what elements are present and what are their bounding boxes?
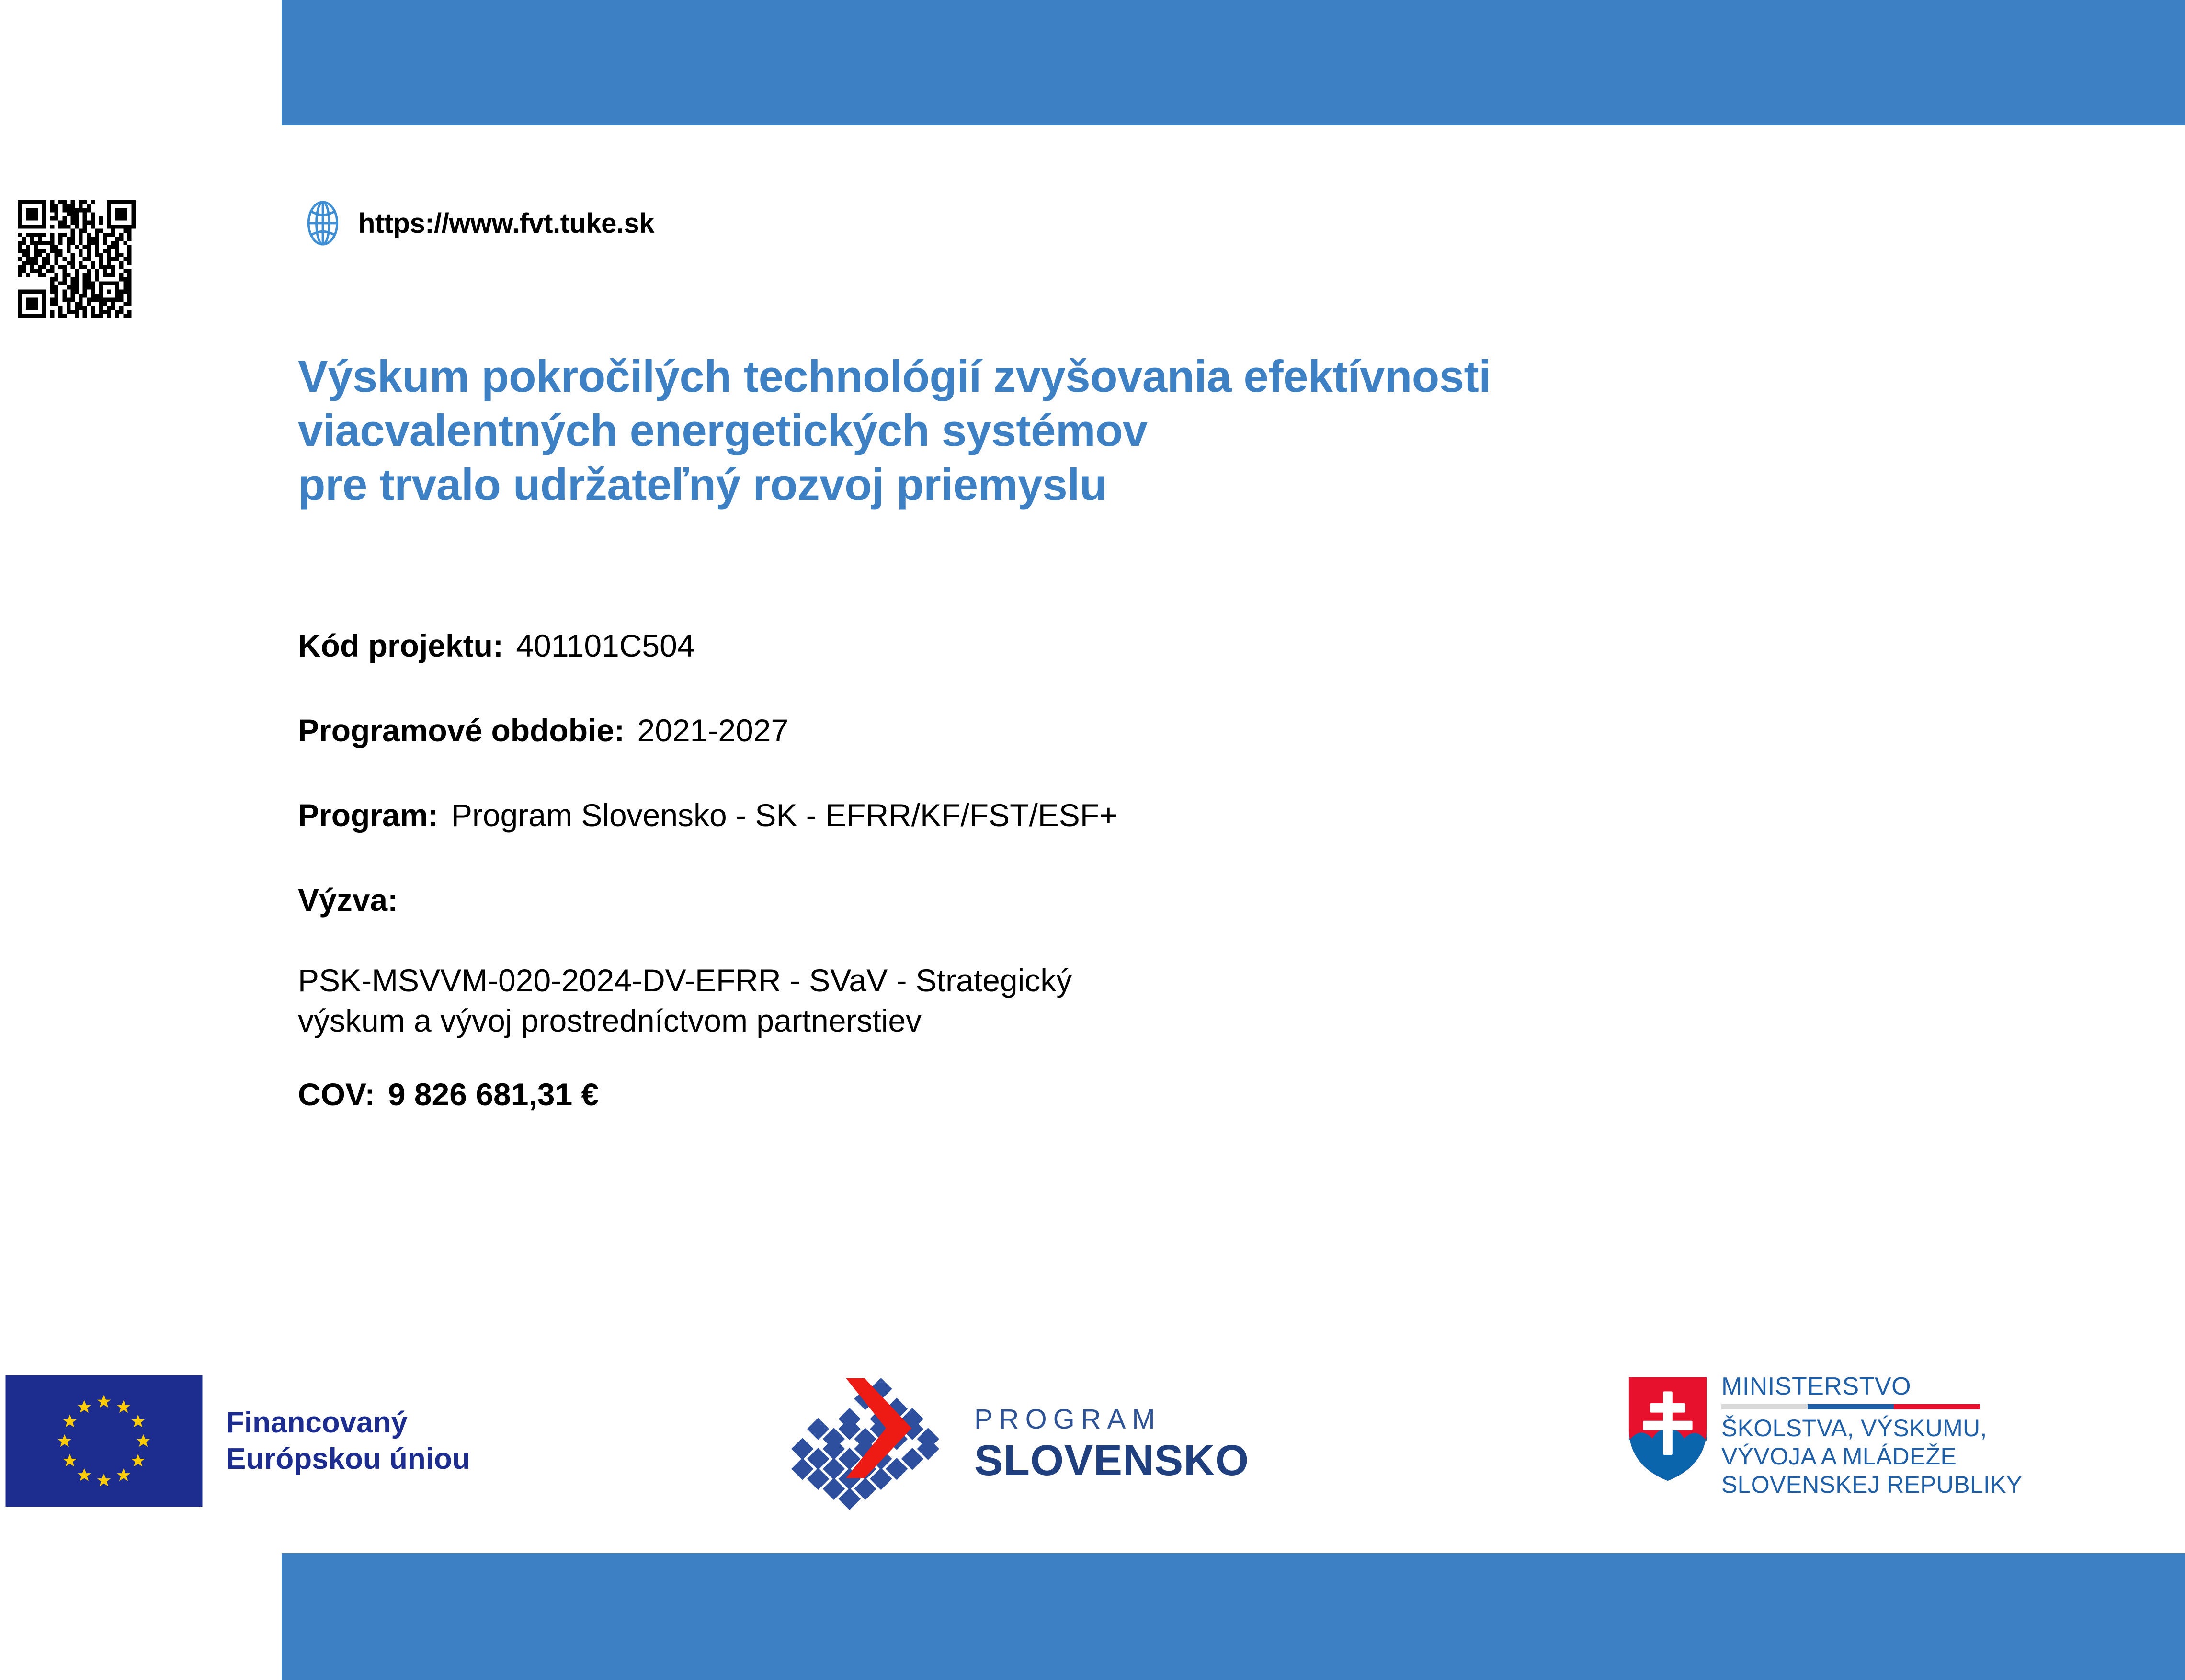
website-row[interactable]: https://www.fvt.tuke.sk bbox=[300, 200, 654, 246]
title-line-3: pre trvalo udržateľný rozvoj priemyslu bbox=[298, 458, 2070, 512]
call-label: Výzva: bbox=[298, 882, 398, 918]
spacer bbox=[298, 749, 1831, 797]
tricolor-divider bbox=[1721, 1404, 1980, 1409]
website-url[interactable]: https://www.fvt.tuke.sk bbox=[358, 207, 654, 239]
eu-funding-logo: Financovaný Európskou úniou bbox=[4, 1375, 470, 1507]
program-slovensko-icon bbox=[785, 1370, 952, 1518]
program-slovensko-line1: PROGRAM bbox=[974, 1406, 1249, 1433]
title-line-1: Výskum pokročilých technológií zvyšovani… bbox=[298, 350, 2070, 404]
ministry-heading: MINISTERSTVO bbox=[1721, 1374, 2022, 1400]
bottom-blue-banner bbox=[282, 1553, 2185, 1680]
top-blue-banner bbox=[282, 0, 2185, 125]
footer-logos: Financovaný Európskou úniou bbox=[0, 1365, 2185, 1528]
page-title: Výskum pokročilých technológií zvyšovani… bbox=[298, 350, 2070, 511]
program-slovensko-logo: PROGRAM SLOVENSKO bbox=[785, 1370, 1249, 1518]
program-slovensko-wordmark: PROGRAM SLOVENSKO bbox=[974, 1406, 1249, 1482]
project-details: Kód projektu: 401101C504 Programové obdo… bbox=[298, 627, 1831, 1112]
cov-label: COV: bbox=[298, 1077, 375, 1112]
eu-flag-icon bbox=[4, 1375, 204, 1507]
ministry-text: MINISTERSTVO ŠKOLSTVA, VÝSKUMU, VÝVOJA A… bbox=[1721, 1373, 2022, 1499]
programme-period-value: 2021-2027 bbox=[637, 713, 789, 748]
globe-icon bbox=[300, 200, 346, 246]
spacer bbox=[298, 1041, 1831, 1076]
spacer bbox=[298, 918, 1831, 960]
project-code-row: Kód projektu: 401101C504 bbox=[298, 627, 1831, 664]
ministry-body: ŠKOLSTVA, VÝSKUMU, VÝVOJA A MLÁDEŽE SLOV… bbox=[1721, 1414, 2022, 1499]
ministry-logo: MINISTERSTVO ŠKOLSTVA, VÝSKUMU, VÝVOJA A… bbox=[1627, 1373, 2022, 1499]
qr-code-icon[interactable] bbox=[7, 200, 147, 318]
project-code-value: 401101C504 bbox=[516, 628, 694, 663]
spacer bbox=[298, 664, 1831, 712]
programme-label: Program: bbox=[298, 797, 438, 833]
tricolor-white bbox=[1721, 1404, 1808, 1409]
programme-row: Program: Program Slovensko - SK - EFRR/K… bbox=[298, 797, 1831, 833]
call-row: Výzva: bbox=[298, 882, 1831, 918]
eu-funding-text: Financovaný Európskou úniou bbox=[226, 1405, 470, 1477]
slovakia-coat-of-arms-icon bbox=[1627, 1374, 1709, 1484]
project-code-label: Kód projektu: bbox=[298, 628, 503, 663]
tricolor-blue bbox=[1808, 1404, 1894, 1409]
cov-value: 9 826 681,31 € bbox=[388, 1077, 599, 1112]
program-slovensko-line2: SLOVENSKO bbox=[974, 1439, 1249, 1482]
programme-period-label: Programové obdobie: bbox=[298, 713, 625, 748]
cov-row: COV: 9 826 681,31 € bbox=[298, 1076, 1831, 1112]
programme-period-row: Programové obdobie: 2021-2027 bbox=[298, 712, 1831, 749]
programme-value: Program Slovensko - SK - EFRR/KF/FST/ESF… bbox=[451, 797, 1118, 833]
spacer bbox=[298, 833, 1831, 882]
call-value: PSK-MSVVM-020-2024-DV-EFRR - SVaV - Stra… bbox=[298, 960, 1831, 1041]
title-line-2: viacvalentných energetických systémov bbox=[298, 404, 2070, 458]
tricolor-red bbox=[1894, 1404, 1980, 1409]
